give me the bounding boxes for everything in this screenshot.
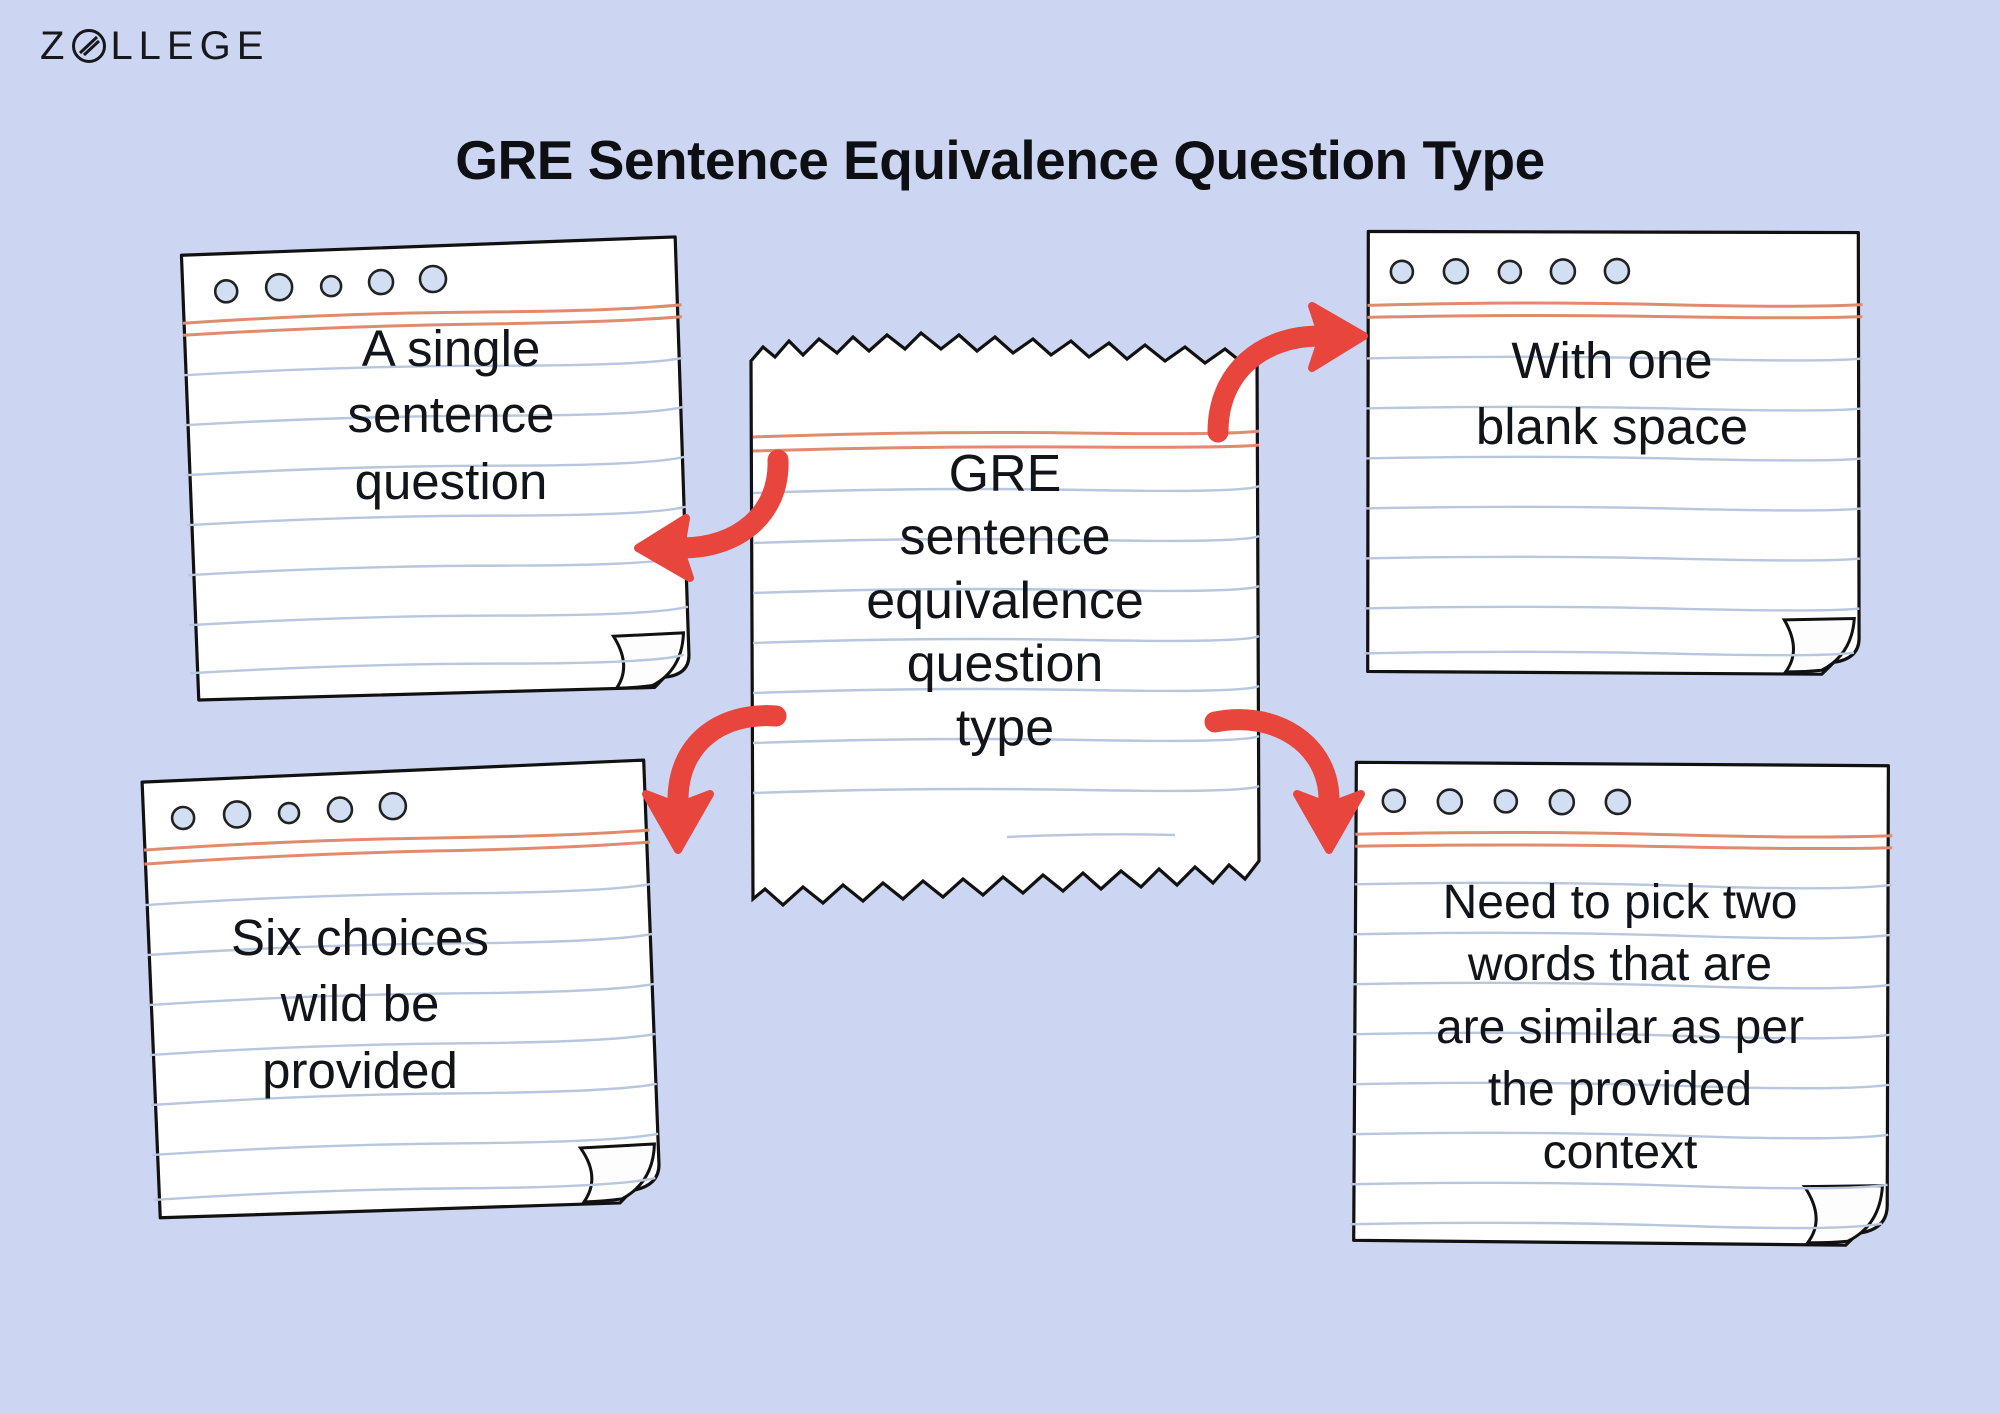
notepad-paper-graphic <box>180 240 690 700</box>
notepad-paper-graphic <box>140 765 660 1215</box>
notepad-paper-graphic <box>1345 760 1895 1250</box>
torn-paper-graphic <box>745 325 1265 925</box>
zollege-logo: Z LLEGE <box>40 26 269 66</box>
slashed-o-icon <box>71 28 107 64</box>
note-card-bottom-left: Six choices wild be provided <box>140 765 660 1215</box>
infographic-canvas: Z LLEGE GRE Sentence Equivalence Questio… <box>0 0 2000 1414</box>
note-card-bottom-right: Need to pick two words that are are simi… <box>1345 760 1895 1250</box>
logo-letters-llege: LLEGE <box>110 26 269 66</box>
note-card-center: GRE sentence equivalence question type <box>745 325 1265 925</box>
notepad-paper-graphic <box>1358 228 1866 678</box>
note-card-top-left: A single sentence question <box>180 240 690 700</box>
note-card-top-right: With one blank space <box>1358 228 1866 678</box>
page-title: GRE Sentence Equivalence Question Type <box>0 128 2000 192</box>
logo-letter-z: Z <box>40 26 70 66</box>
